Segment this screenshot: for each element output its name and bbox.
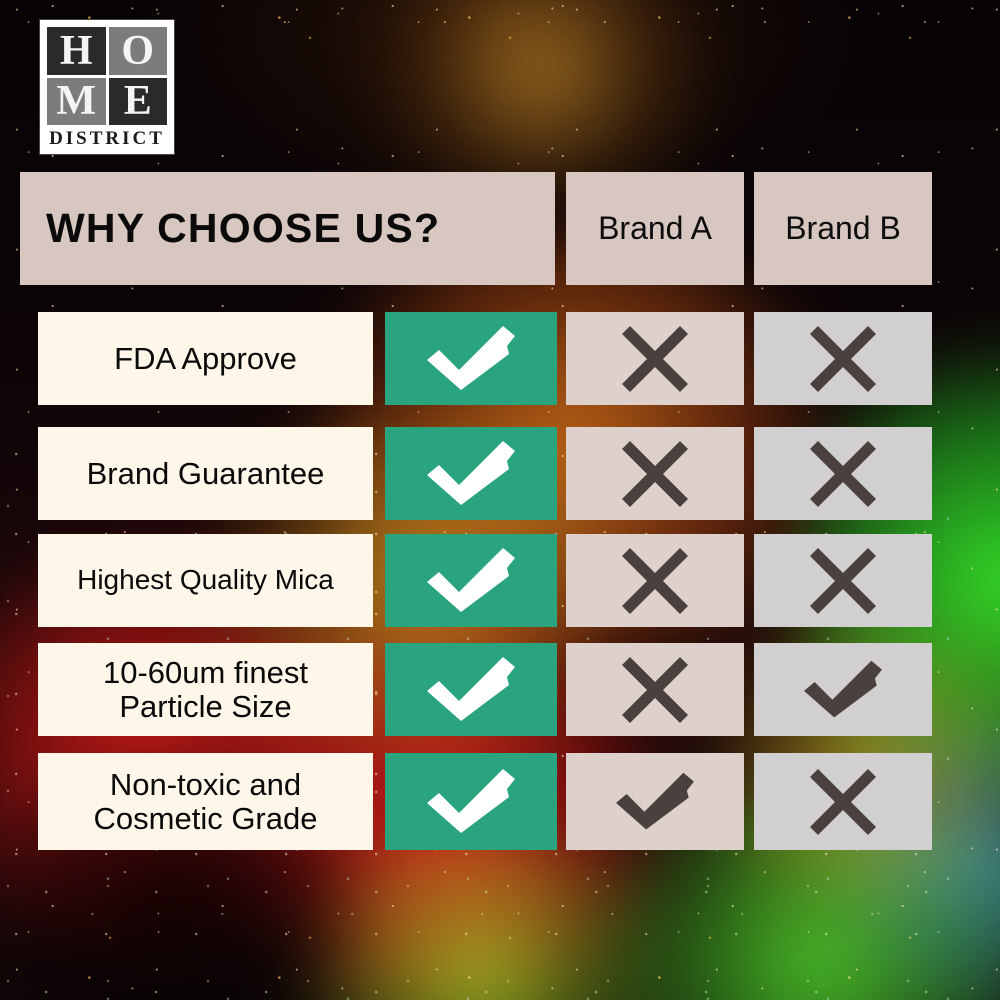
feature-label-line: Particle Size bbox=[119, 689, 291, 724]
cell-brand-b-row-3 bbox=[754, 534, 932, 627]
cross-icon bbox=[620, 439, 690, 509]
check-icon bbox=[423, 324, 519, 394]
feature-label-text: FDA Approve bbox=[52, 342, 359, 375]
cell-brand-a-row-3 bbox=[566, 534, 744, 627]
feature-label-line: Cosmetic Grade bbox=[94, 801, 318, 836]
cross-icon bbox=[808, 439, 878, 509]
column-header-brand-b: Brand B bbox=[754, 172, 932, 285]
feature-label-text: Highest Quality Mica bbox=[52, 565, 359, 595]
table-title-cell: WHY CHOOSE US? bbox=[20, 172, 555, 285]
cross-icon bbox=[620, 655, 690, 725]
cross-icon bbox=[620, 324, 690, 394]
cell-us-row-3 bbox=[385, 534, 557, 627]
cross-icon bbox=[620, 546, 690, 616]
cell-brand-b-row-4 bbox=[754, 643, 932, 736]
cell-brand-b-row-1 bbox=[754, 312, 932, 405]
cell-us-row-2 bbox=[385, 427, 557, 520]
cell-us-row-5 bbox=[385, 753, 557, 850]
cell-brand-a-row-5 bbox=[566, 753, 744, 850]
check-icon bbox=[423, 655, 519, 725]
cell-brand-b-row-2 bbox=[754, 427, 932, 520]
cross-icon bbox=[808, 324, 878, 394]
cell-brand-b-row-5 bbox=[754, 753, 932, 850]
feature-label-text: Brand Guarantee bbox=[52, 457, 359, 490]
feature-label-text: Non-toxic and Cosmetic Grade bbox=[52, 768, 359, 835]
check-icon bbox=[423, 439, 519, 509]
check-icon bbox=[423, 546, 519, 616]
feature-label-line: Non-toxic and bbox=[110, 767, 301, 802]
cross-icon bbox=[808, 767, 878, 837]
cell-us-row-1 bbox=[385, 312, 557, 405]
column-header-brand-a: Brand A bbox=[566, 172, 744, 285]
column-header-brand-b-label: Brand B bbox=[785, 210, 901, 247]
feature-label-line: 10-60um finest bbox=[103, 655, 308, 690]
cell-brand-a-row-1 bbox=[566, 312, 744, 405]
feature-label-text: 10-60um finest Particle Size bbox=[52, 656, 359, 723]
check-icon bbox=[423, 767, 519, 837]
feature-label-cell: Non-toxic and Cosmetic Grade bbox=[38, 753, 373, 850]
feature-label-cell: Highest Quality Mica bbox=[38, 534, 373, 627]
feature-label-cell: FDA Approve bbox=[38, 312, 373, 405]
comparison-table: WHY CHOOSE US? Brand A Brand B FDA Appro… bbox=[0, 0, 1000, 1000]
cell-us-row-4 bbox=[385, 643, 557, 736]
check-icon bbox=[612, 771, 698, 833]
feature-label-cell: Brand Guarantee bbox=[38, 427, 373, 520]
feature-label-cell: 10-60um finest Particle Size bbox=[38, 643, 373, 736]
cross-icon bbox=[808, 546, 878, 616]
page-title: WHY CHOOSE US? bbox=[46, 205, 440, 252]
cell-brand-a-row-2 bbox=[566, 427, 744, 520]
cell-brand-a-row-4 bbox=[566, 643, 744, 736]
check-icon bbox=[800, 659, 886, 721]
column-header-brand-a-label: Brand A bbox=[598, 210, 712, 247]
